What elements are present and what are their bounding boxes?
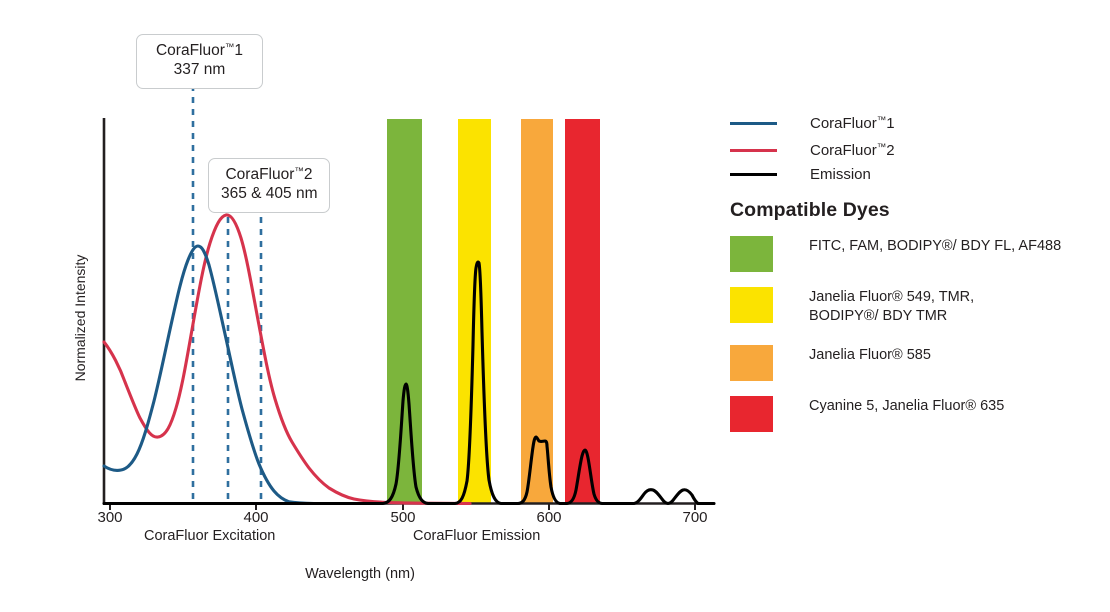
callout-corafluor2: CoraFluor™2 365 & 405 nm [208, 158, 330, 213]
compatible-dyes-heading: Compatible Dyes [730, 199, 890, 222]
figure-root: CoraFluor™1 337 nm CoraFluor™2 365 & 405… [0, 0, 1110, 612]
legend-series-corafluor2: CoraFluor™2 [727, 140, 895, 160]
callout-corafluor1: CoraFluor™1 337 nm [136, 34, 263, 89]
legend-series-label-emission: Emission [810, 166, 871, 183]
dye-label-green: FITC, FAM, BODIPY®/ BDY FL, AF488 [809, 236, 1061, 256]
y-axis-title: Normalized Intensity [72, 218, 88, 418]
sub-label-excitation: CoraFluor Excitation [144, 528, 275, 544]
dye-swatch-green [730, 236, 773, 272]
callout-corafluor2-value: 365 & 405 nm [221, 185, 317, 204]
dye-legend-item-red: Cyanine 5, Janelia Fluor® 635 [727, 396, 1004, 432]
curve-corafluor1 [104, 246, 314, 504]
x-tick-label-600: 600 [519, 509, 579, 526]
dye-legend-item-orange: Janelia Fluor® 585 [727, 345, 931, 381]
dye-label-yellow: Janelia Fluor® 549, TMR, BODIPY®/ BDY TM… [809, 287, 974, 326]
dye-legend-item-green: FITC, FAM, BODIPY®/ BDY FL, AF488 [727, 236, 1061, 272]
trademark-symbol: ™ [225, 42, 235, 53]
callout-corafluor2-title: CoraFluor™2 [221, 166, 317, 185]
dye-swatch-red [730, 396, 773, 432]
dye-swatch-yellow [730, 287, 773, 323]
x-tick-label-500: 500 [373, 509, 433, 526]
legend-series-label-corafluor2: CoraFluor™2 [810, 142, 895, 159]
dye-label-yellow-line1: Janelia Fluor® 549, TMR, [809, 288, 974, 307]
callout-corafluor1-title: CoraFluor™1 [149, 42, 250, 61]
x-tick-label-700: 700 [665, 509, 725, 526]
dye-label-red: Cyanine 5, Janelia Fluor® 635 [809, 396, 1004, 416]
band-green [387, 119, 422, 503]
sub-label-emission: CoraFluor Emission [413, 528, 540, 544]
dye-swatch-orange [730, 345, 773, 381]
legend-series-corafluor1: CoraFluor™1 [727, 113, 895, 133]
dye-bands [387, 119, 600, 503]
callout-corafluor1-value: 337 nm [149, 61, 250, 80]
legend-panel: CoraFluor™1 CoraFluor™2 Emission Compati… [727, 0, 1110, 612]
dye-label-orange: Janelia Fluor® 585 [809, 345, 931, 365]
chart-panel: CoraFluor™1 337 nm CoraFluor™2 365 & 405… [0, 0, 720, 612]
x-axis-title: Wavelength (nm) [0, 566, 720, 582]
legend-series-emission: Emission [727, 164, 871, 184]
trademark-symbol: ™ [877, 115, 887, 126]
dye-label-yellow-line2: BODIPY®/ BDY TMR [809, 307, 974, 326]
band-red [565, 119, 600, 503]
legend-line-swatch-corafluor1 [730, 122, 777, 125]
legend-line-swatch-corafluor2 [730, 149, 777, 152]
dye-legend-item-yellow: Janelia Fluor® 549, TMR, BODIPY®/ BDY TM… [727, 287, 974, 326]
legend-line-swatch-emission [730, 173, 777, 176]
legend-series-label-corafluor1: CoraFluor™1 [810, 115, 895, 132]
x-tick-label-400: 400 [226, 509, 286, 526]
x-tick-label-300: 300 [80, 509, 140, 526]
trademark-symbol: ™ [877, 142, 887, 153]
trademark-symbol: ™ [294, 166, 304, 177]
